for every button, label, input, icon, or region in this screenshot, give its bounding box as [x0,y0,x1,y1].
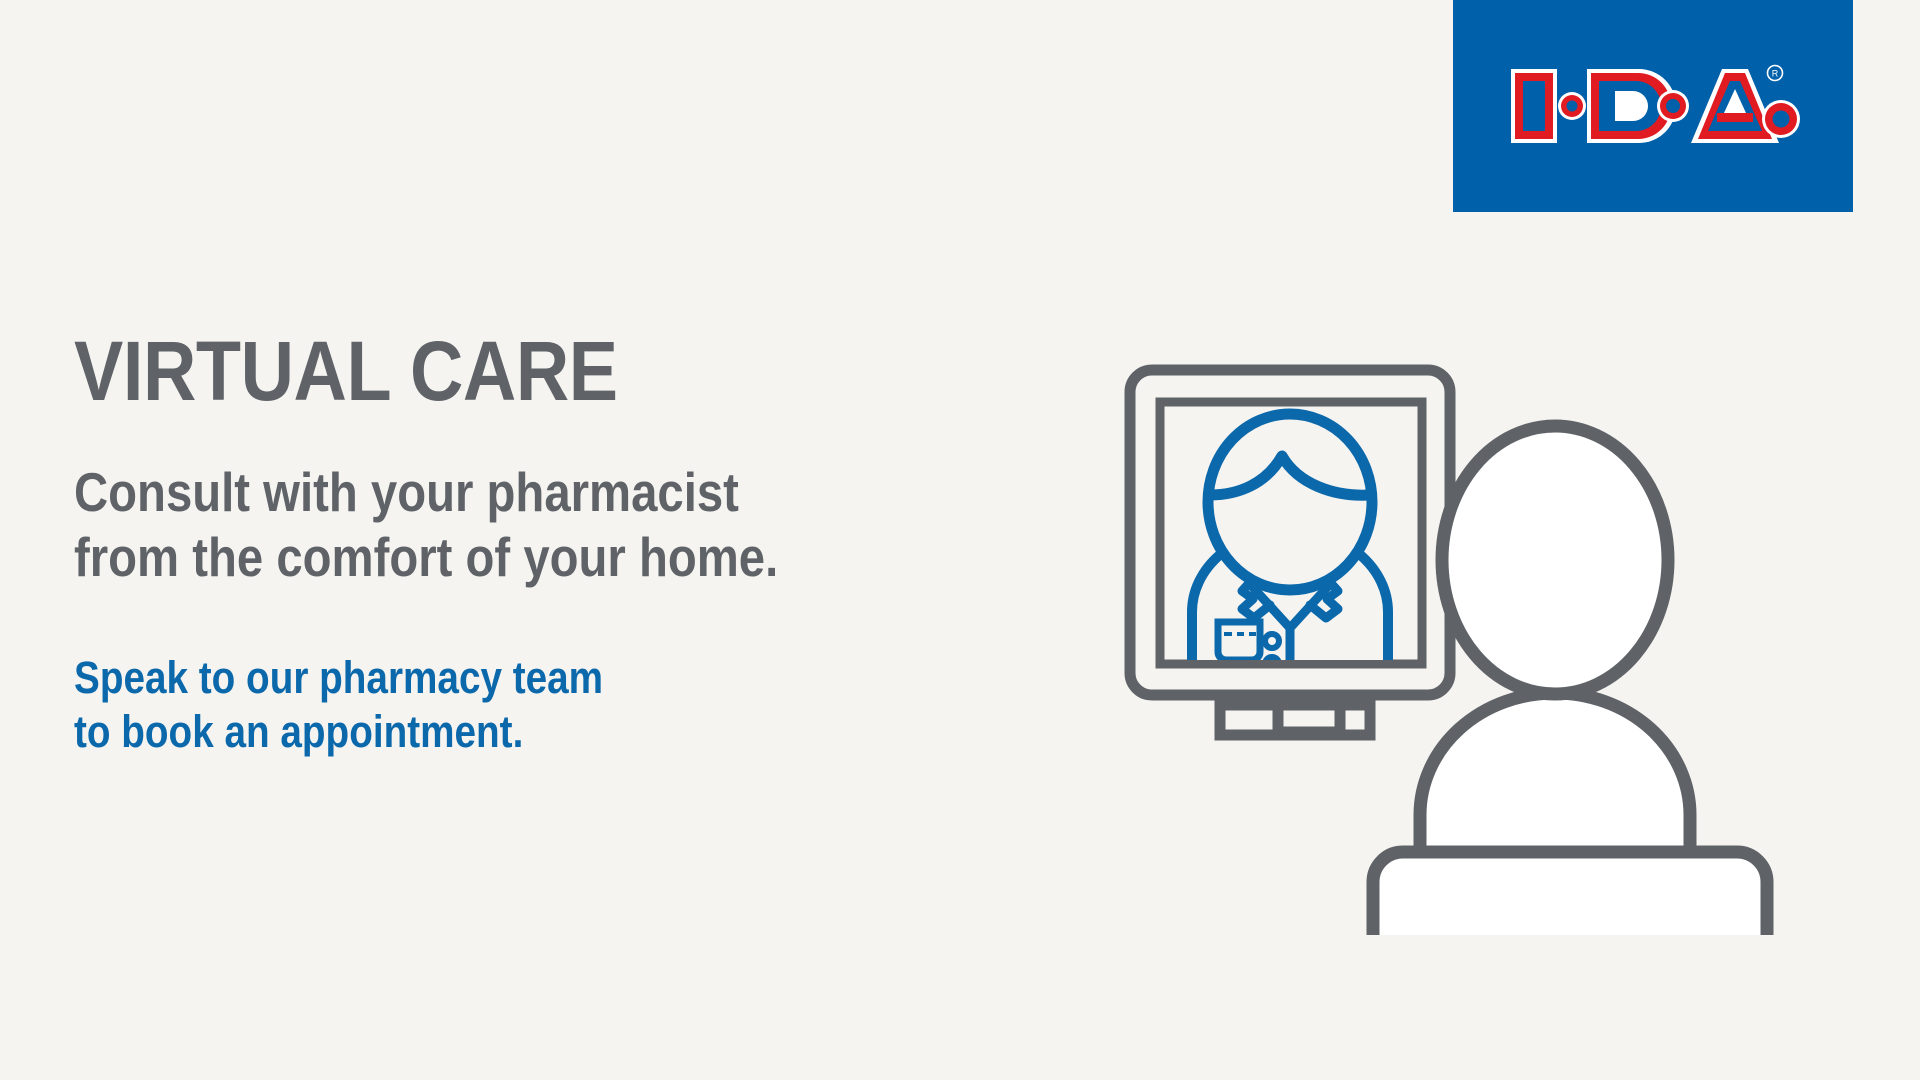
cta-line-2: to book an appointment. [74,705,934,759]
pharmacist-pocket [1218,622,1260,660]
pharmacist-head [1208,414,1372,590]
page-title: VIRTUAL CARE [74,330,954,412]
subhead-line-2: from the comfort of your home. [74,525,934,589]
copy-block: VIRTUAL CARE Consult with your pharmacis… [74,330,1074,759]
monitor-base [1220,705,1370,735]
logo-dot-3 [1762,100,1800,138]
subhead-text: Consult with your pharmacist from the co… [74,460,934,589]
svg-text:R: R [1772,69,1779,79]
logo-letter-a [1691,69,1779,143]
cta-line-1: Speak to our pharmacy team [74,651,934,705]
registered-mark-icon: R [1768,66,1783,81]
logo-letter-i [1511,69,1557,143]
cta-text: Speak to our pharmacy team to book an ap… [74,651,934,759]
pharmacist-figure [1192,414,1388,671]
poster-canvas: R VIRTUAL CARE Consult with your pharmac… [0,0,1920,1080]
subhead-line-1: Consult with your pharmacist [74,460,934,524]
ida-logo: R [1503,51,1803,161]
logo-dot-1 [1558,92,1586,120]
brand-banner: R [1453,0,1853,212]
logo-dot-2 [1657,90,1689,122]
chair-arms [1373,852,1767,935]
virtual-care-illustration [1120,360,1860,940]
